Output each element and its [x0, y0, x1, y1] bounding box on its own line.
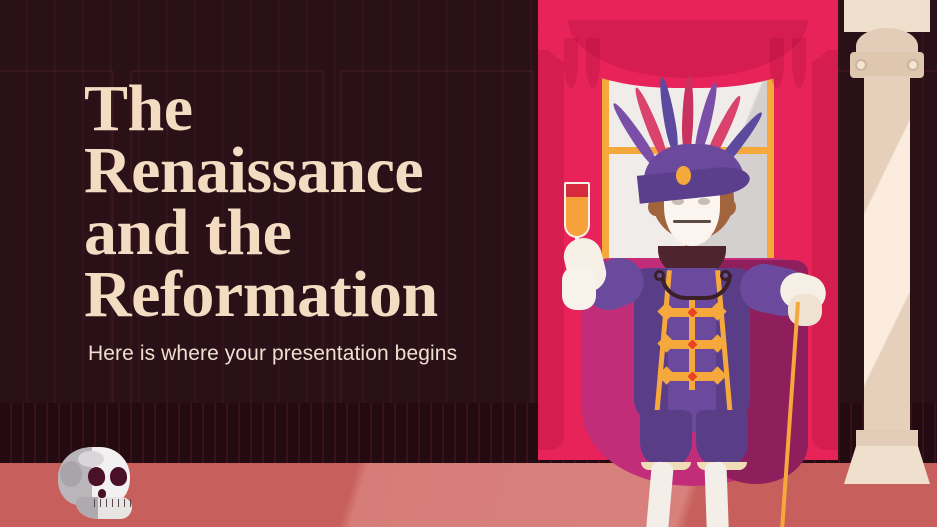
volute-eye [855, 59, 867, 71]
column-shaft [864, 76, 910, 434]
glass-wine [566, 184, 588, 197]
skull-temple [60, 461, 82, 487]
mask-eyehole [698, 198, 710, 205]
presentation-slide: The Renaissance and the Reformation Here… [0, 0, 937, 527]
title-block: The Renaissance and the Reformation Here… [84, 78, 514, 366]
chain-bead [720, 270, 731, 281]
glass-foot [565, 260, 589, 265]
skull-teeth [94, 499, 132, 507]
page-subtitle: Here is where your presentation begins [88, 342, 514, 366]
glass-stem [575, 236, 579, 262]
page-title: The Renaissance and the Reformation [84, 78, 514, 326]
hand-right [788, 294, 822, 326]
breeches [696, 410, 748, 468]
mask-mouth [673, 220, 711, 223]
skull-decoration [48, 447, 134, 517]
skull-highlight [78, 451, 104, 467]
breeches [640, 410, 692, 468]
chain-bead [654, 270, 665, 281]
volute-eye [907, 59, 919, 71]
ear [720, 198, 736, 216]
masked-nobleman-illustration [548, 70, 838, 490]
column-plinth [844, 446, 930, 484]
hat-feather [681, 76, 695, 154]
skull-nasal-cavity [98, 489, 106, 498]
title-line: Reformation [84, 258, 438, 331]
champagne-glass [560, 182, 594, 274]
column-volutes [850, 52, 924, 78]
ionic-column [858, 0, 916, 484]
stocking-leg [704, 462, 729, 527]
hat-gem [676, 166, 691, 185]
